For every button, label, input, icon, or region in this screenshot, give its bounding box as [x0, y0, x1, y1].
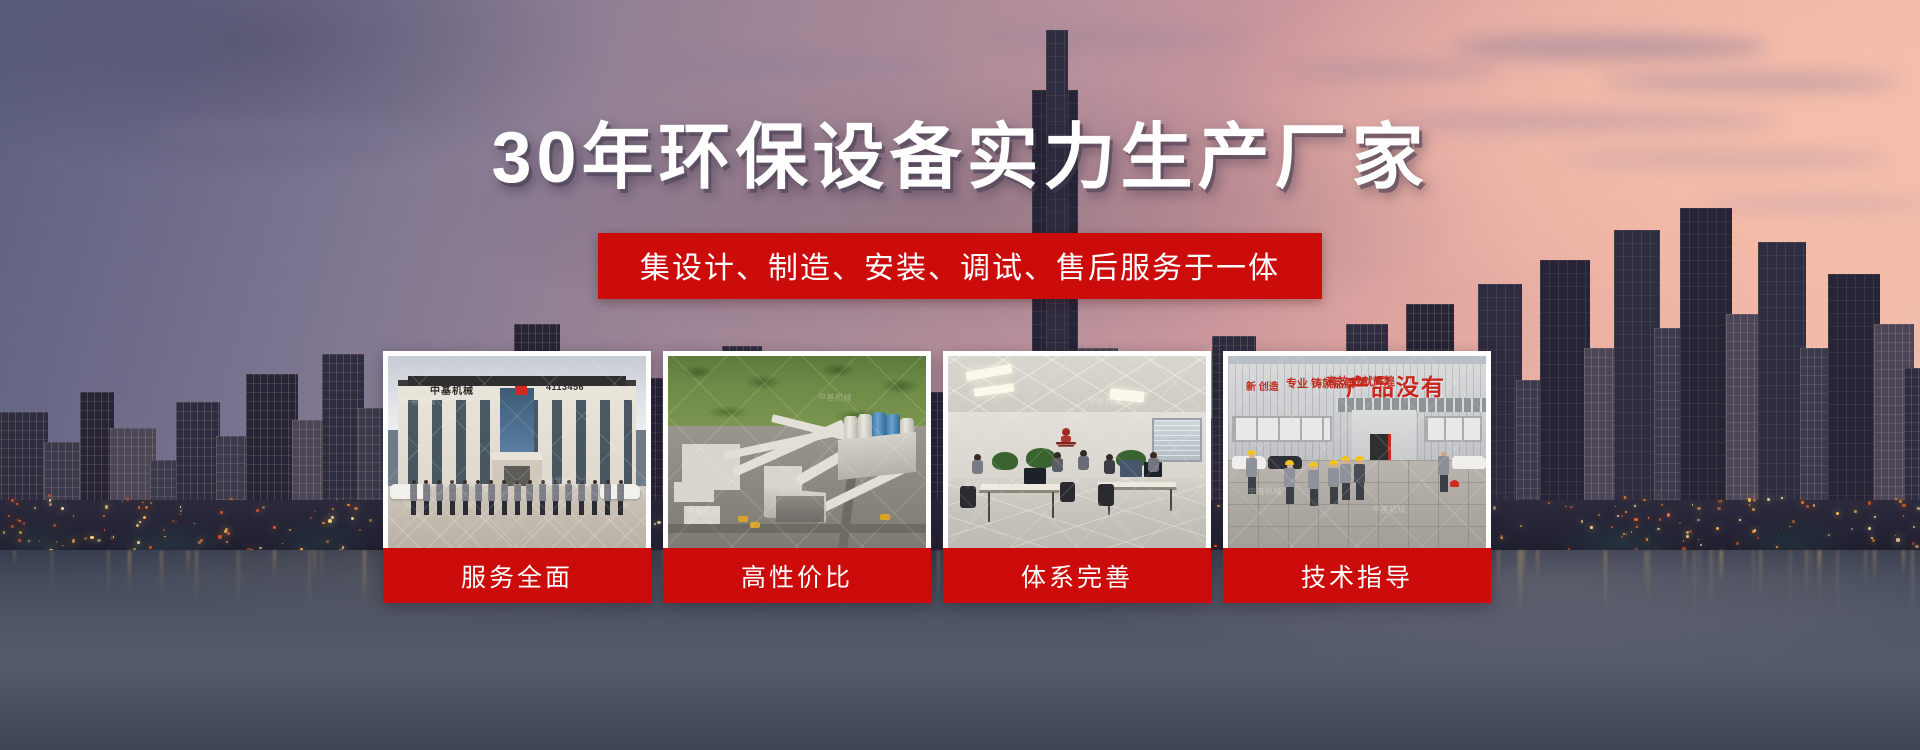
feature-card[interactable]: 中基机械 4113456 中基机械中基机械 服务全面: [383, 351, 651, 603]
subtitle-banner: 集设计、制造、安装、调试、售后服务于一体: [598, 233, 1322, 299]
card-caption: 高性价比: [663, 548, 931, 603]
hero-banner: 30年环保设备实力生产厂家 集设计、制造、安装、调试、售后服务于一体 中基机械 …: [0, 0, 1920, 750]
card-caption: 服务全面: [383, 548, 651, 603]
page-title: 30年环保设备实力生产厂家: [0, 122, 1920, 194]
wall-decal-icon: [1052, 424, 1080, 448]
factory-wall-slogan-left: 新 创造: [1246, 382, 1279, 394]
factory-wall-slogan-right: 高效 成就辉煌: [1326, 376, 1395, 389]
office-interior-team-photo: 中基机械中基机械: [948, 356, 1206, 548]
feature-card-row: 中基机械 4113456 中基机械中基机械 服务全面: [383, 351, 1539, 603]
building-sign-text: 中基机械: [430, 382, 474, 397]
company-headquarters-building-photo: 中基机械 4113456 中基机械中基机械: [388, 356, 646, 548]
workers-factory-briefing-photo: 产品没有 新 创造 专业 铸就品质 高效 成就辉煌: [1228, 356, 1486, 548]
building-phone-text: 4113456: [546, 382, 584, 392]
feature-card[interactable]: 中基机械中基机械 高性价比: [663, 351, 931, 603]
card-caption: 技术指导: [1223, 548, 1491, 603]
card-caption: 体系完善: [943, 548, 1211, 603]
aerial-production-plant-photo: 中基机械中基机械: [668, 356, 926, 548]
feature-card[interactable]: 中基机械中基机械 体系完善: [943, 351, 1211, 603]
feature-card[interactable]: 产品没有 新 创造 专业 铸就品质 高效 成就辉煌: [1223, 351, 1491, 603]
